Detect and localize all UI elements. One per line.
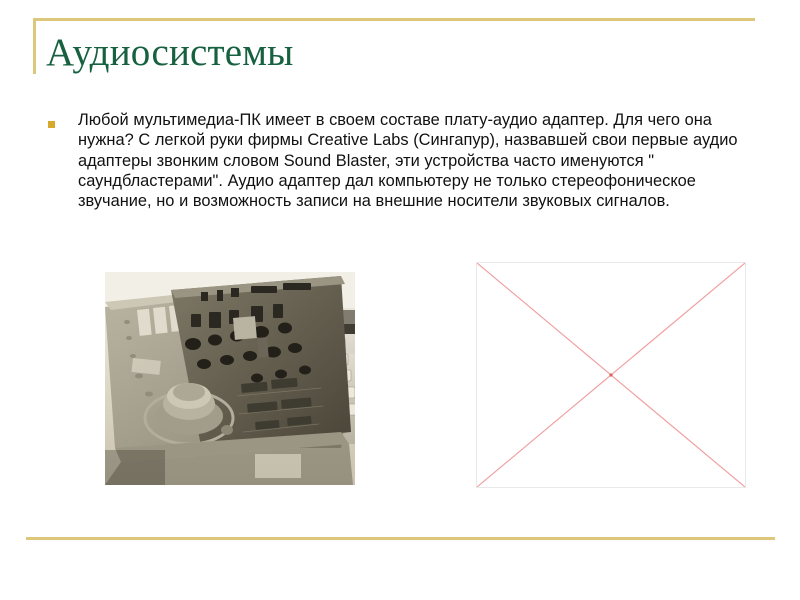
left-accent-rule	[33, 18, 36, 74]
bullet-list-item: Любой мультимедиа-ПК имеет в своем соста…	[46, 110, 750, 211]
sound-card-photograph	[105, 272, 355, 485]
slide-title: Аудиосистемы	[46, 30, 294, 76]
slide-body: Любой мультимедиа-ПК имеет в своем соста…	[46, 110, 750, 211]
bottom-accent-rule	[26, 537, 775, 540]
top-accent-rule	[33, 18, 755, 21]
presentation-slide: Аудиосистемы Любой мультимедиа-ПК имеет …	[0, 0, 800, 600]
bullet-paragraph-text: Любой мультимедиа-ПК имеет в своем соста…	[78, 110, 750, 211]
square-bullet-icon	[48, 121, 55, 128]
placeholder-cross-center	[609, 373, 612, 376]
broken-image-placeholder	[476, 262, 746, 488]
